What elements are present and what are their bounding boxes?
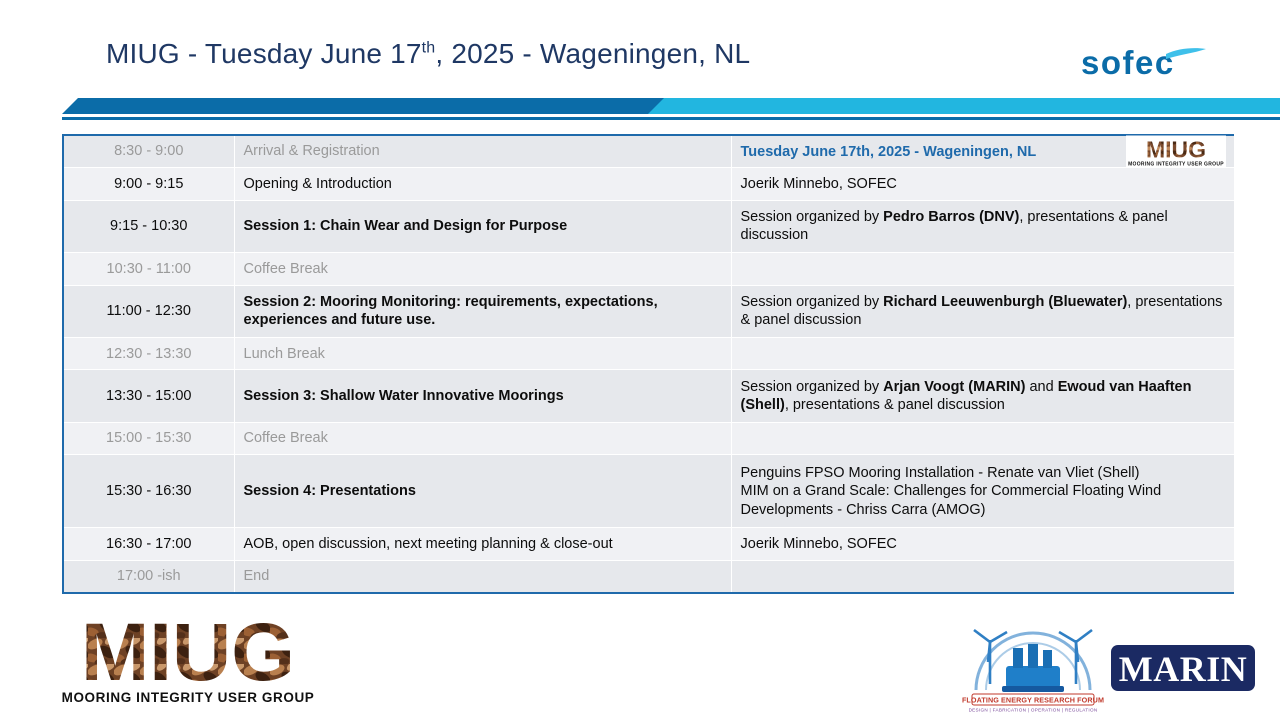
table-row: 10:30 - 11:00 Coffee Break — [64, 253, 1234, 285]
cell-time: 10:30 - 11:00 — [64, 253, 234, 285]
who-prefix: Session organized by — [741, 209, 884, 225]
page-title-ordinal: th — [422, 40, 436, 57]
cell-topic: Session 3: Shallow Water Innovative Moor… — [234, 370, 731, 423]
table-row: 12:30 - 13:30 Lunch Break — [64, 338, 1234, 370]
time-label: 15:00 - 15:30 — [106, 430, 191, 446]
table-row: 8:30 - 9:00 Arrival & Registration Tuesd… — [64, 136, 1234, 168]
svg-text:MIUG: MIUG — [1146, 136, 1206, 162]
table-row: 15:30 - 16:30 Session 4: Presentations P… — [64, 455, 1234, 528]
who-suffix: , presentations & panel discussion — [785, 397, 1005, 413]
topic-label: Opening & Introduction — [244, 176, 392, 192]
who-label: Joerik Minnebo, SOFEC — [741, 536, 897, 552]
session-number: Session 2 — [244, 294, 312, 310]
topic-label: : Shallow Water Innovative Moorings — [311, 388, 563, 404]
cell-time: 9:15 - 10:30 — [64, 200, 234, 253]
header-accent-stripe — [0, 98, 1280, 120]
table-row: 13:30 - 15:00 Session 3: Shallow Water I… — [64, 370, 1234, 423]
who-organizer: Arjan Voogt (MARIN) — [883, 379, 1025, 395]
svg-text:sofec: sofec — [1081, 44, 1175, 81]
marin-text: MARIN — [1119, 649, 1247, 689]
cell-time: 8:30 - 9:00 — [64, 136, 234, 168]
ferf-subbanner-text: DESIGN | FABRICATION | OPERATION | REGUL… — [969, 708, 1098, 713]
cell-who: Tuesday June 17th, 2025 - Wageningen, NL — [731, 136, 1234, 168]
who-highlight: Tuesday June 17th, 2025 - Wageningen, NL — [741, 144, 1037, 160]
marin-logo-svg: MARIN — [1108, 641, 1258, 695]
time-label: 10:30 - 11:00 — [107, 261, 191, 277]
page-title-main: MIUG - Tuesday June 17 — [106, 38, 422, 69]
cell-who: Session organized by Pedro Barros (DNV),… — [731, 200, 1234, 253]
table-row: 15:00 - 15:30 Coffee Break — [64, 423, 1234, 455]
cell-who — [731, 423, 1234, 455]
session-number: Session 3 — [244, 388, 312, 404]
time-label: 17:00 -ish — [117, 568, 181, 584]
topic-label: AOB, open discussion, next meeting plann… — [244, 536, 613, 552]
page-title: MIUG - Tuesday June 17th, 2025 - Wagenin… — [106, 38, 750, 70]
cell-topic: Coffee Break — [234, 423, 731, 455]
time-label: 9:00 - 9:15 — [114, 176, 183, 192]
cell-topic: Session 4: Presentations — [234, 455, 731, 528]
svg-text:MOORING INTEGRITY USER GROUP: MOORING INTEGRITY USER GROUP — [1128, 161, 1224, 167]
cell-topic: Coffee Break — [234, 253, 731, 285]
cell-topic: End — [234, 560, 731, 592]
cell-topic: Session 2: Mooring Monitoring: requireme… — [234, 285, 731, 338]
cell-who — [731, 253, 1234, 285]
sofec-logo: sofec — [1078, 42, 1243, 84]
table-row: 17:00 -ish End — [64, 560, 1234, 592]
time-label: 13:30 - 15:00 — [106, 388, 191, 404]
who-conjunction: and — [1025, 379, 1057, 395]
time-label: 9:15 - 10:30 — [110, 218, 187, 234]
miug-logo-icon: MIUG MOORING INTEGRITY USER GROUP — [1126, 135, 1226, 168]
who-organizer: Pedro Barros (DNV) — [883, 209, 1019, 225]
cell-topic: Arrival & Registration — [234, 136, 731, 168]
cell-who: Joerik Minnebo, SOFEC — [731, 528, 1234, 560]
cell-time: 17:00 -ish — [64, 560, 234, 592]
topic-label: Coffee Break — [244, 430, 328, 446]
time-label: 15:30 - 16:30 — [106, 483, 191, 499]
session-number: Session 4 — [244, 483, 312, 499]
miug-mini-svg: MIUG MOORING INTEGRITY USER GROUP — [1126, 135, 1226, 168]
miug-letters: MIUG — [81, 612, 295, 698]
topic-label: : Presentations — [311, 483, 416, 499]
topic-label: Lunch Break — [244, 346, 325, 362]
cell-who: Session organized by Richard Leeuwenburg… — [731, 285, 1234, 338]
ferf-logo-svg: FLOATING ENERGY RESEARCH FORUM DESIGN | … — [958, 618, 1108, 716]
marin-logo: MARIN — [1108, 641, 1258, 695]
table-row: 9:00 - 9:15 Opening & Introduction Joeri… — [64, 168, 1234, 200]
cell-who: Joerik Minnebo, SOFEC — [731, 168, 1234, 200]
cell-topic: Opening & Introduction — [234, 168, 731, 200]
topic-label: : Chain Wear and Design for Purpose — [311, 218, 567, 234]
cell-who: Session organized by Arjan Voogt (MARIN)… — [731, 370, 1234, 423]
cell-time: 15:30 - 16:30 — [64, 455, 234, 528]
miug-logo: MIUG MOORING INTEGRITY USER GROUP — [62, 612, 314, 708]
agenda-table: 8:30 - 9:00 Arrival & Registration Tuesd… — [64, 136, 1234, 592]
time-label: 11:00 - 12:30 — [107, 303, 191, 319]
cell-who: Penguins FPSO Mooring Installation - Ren… — [731, 455, 1234, 528]
topic-label: Arrival & Registration — [244, 143, 380, 159]
miug-logo-svg: MIUG MOORING INTEGRITY USER GROUP — [62, 612, 314, 708]
page-title-rest: , 2025 - Wageningen, NL — [435, 38, 750, 69]
cell-topic: AOB, open discussion, next meeting plann… — [234, 528, 731, 560]
cell-topic: Session 1: Chain Wear and Design for Pur… — [234, 200, 731, 253]
ferf-logo: FLOATING ENERGY RESEARCH FORUM DESIGN | … — [958, 618, 1108, 716]
who-prefix: Session organized by — [741, 379, 884, 395]
topic-label: End — [244, 568, 270, 584]
who-label: Joerik Minnebo, SOFEC — [741, 176, 897, 192]
cell-time: 15:00 - 15:30 — [64, 423, 234, 455]
topic-label: Coffee Break — [244, 261, 328, 277]
presentation-line-1: Penguins FPSO Mooring Installation - Ren… — [741, 464, 1226, 483]
who-organizer: Richard Leeuwenburgh (Bluewater) — [883, 294, 1127, 310]
agenda-table-frame: 8:30 - 9:00 Arrival & Registration Tuesd… — [62, 134, 1234, 594]
table-row: 16:30 - 17:00 AOB, open discussion, next… — [64, 528, 1234, 560]
cell-time: 12:30 - 13:30 — [64, 338, 234, 370]
table-row: 11:00 - 12:30 Session 2: Mooring Monitor… — [64, 285, 1234, 338]
cell-who — [731, 338, 1234, 370]
presentation-line-2: MIM on a Grand Scale: Challenges for Com… — [741, 482, 1226, 519]
sofec-logo-svg: sofec — [1078, 42, 1243, 84]
cell-time: 16:30 - 17:00 — [64, 528, 234, 560]
time-label: 8:30 - 9:00 — [114, 143, 183, 159]
session-number: Session 1 — [244, 218, 312, 234]
ferf-banner-text: FLOATING ENERGY RESEARCH FORUM — [962, 696, 1104, 705]
accent-stripe-svg — [0, 98, 1280, 120]
time-label: 12:30 - 13:30 — [106, 346, 191, 362]
cell-topic: Lunch Break — [234, 338, 731, 370]
cell-time: 11:00 - 12:30 — [64, 285, 234, 338]
cell-time: 9:00 - 9:15 — [64, 168, 234, 200]
table-row: 9:15 - 10:30 Session 1: Chain Wear and D… — [64, 200, 1234, 253]
who-prefix: Session organized by — [741, 294, 884, 310]
cell-who — [731, 560, 1234, 592]
cell-time: 13:30 - 15:00 — [64, 370, 234, 423]
miug-tagline: MOORING INTEGRITY USER GROUP — [62, 690, 314, 705]
time-label: 16:30 - 17:00 — [106, 536, 191, 552]
